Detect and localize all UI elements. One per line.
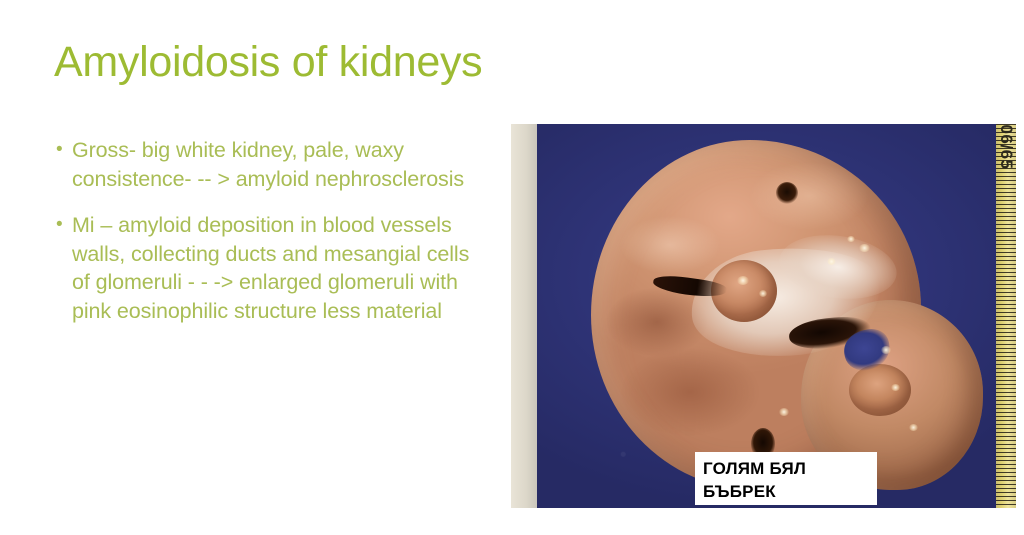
kidney-photo: 706/65 ГОЛЯМ БЯЛ БЪБРЕК: [511, 124, 1016, 508]
bullet-dot-icon: •: [52, 211, 72, 240]
kidney-papilla: [849, 364, 911, 416]
photo-board-strip: [511, 124, 537, 508]
specular-highlight: [881, 346, 891, 354]
specular-highlight: [827, 258, 836, 265]
ruler-ticks: [996, 124, 1016, 508]
caption-line-1: ГОЛЯМ БЯЛ: [703, 457, 877, 480]
caption-line-2: БЪБРЕК: [703, 480, 877, 503]
bullet-text: Gross- big white kidney, pale, waxy cons…: [72, 136, 472, 193]
bullet-dot-icon: •: [52, 136, 72, 165]
kidney-specimen: [591, 140, 983, 490]
specular-highlight: [847, 236, 855, 242]
page-title: Amyloidosis of kidneys: [54, 36, 874, 88]
bullet-list: • Gross- big white kidney, pale, waxy co…: [52, 136, 472, 325]
specular-highlight: [859, 244, 870, 252]
list-item: • Mi – amyloid deposition in blood vesse…: [52, 211, 472, 325]
kidney-cleft: [776, 182, 798, 204]
ruler-label: 706/65: [996, 124, 1016, 170]
photo-caption-box: ГОЛЯМ БЯЛ БЪБРЕК: [695, 452, 877, 505]
ruler-tape: 706/65: [996, 124, 1016, 508]
bullet-text: Mi – amyloid deposition in blood vessels…: [72, 211, 472, 325]
specular-highlight: [891, 384, 900, 391]
list-item: • Gross- big white kidney, pale, waxy co…: [52, 136, 472, 193]
specular-highlight: [779, 408, 789, 416]
specular-highlight: [759, 290, 767, 297]
specular-highlight: [909, 424, 918, 431]
specular-highlight: [737, 276, 749, 285]
